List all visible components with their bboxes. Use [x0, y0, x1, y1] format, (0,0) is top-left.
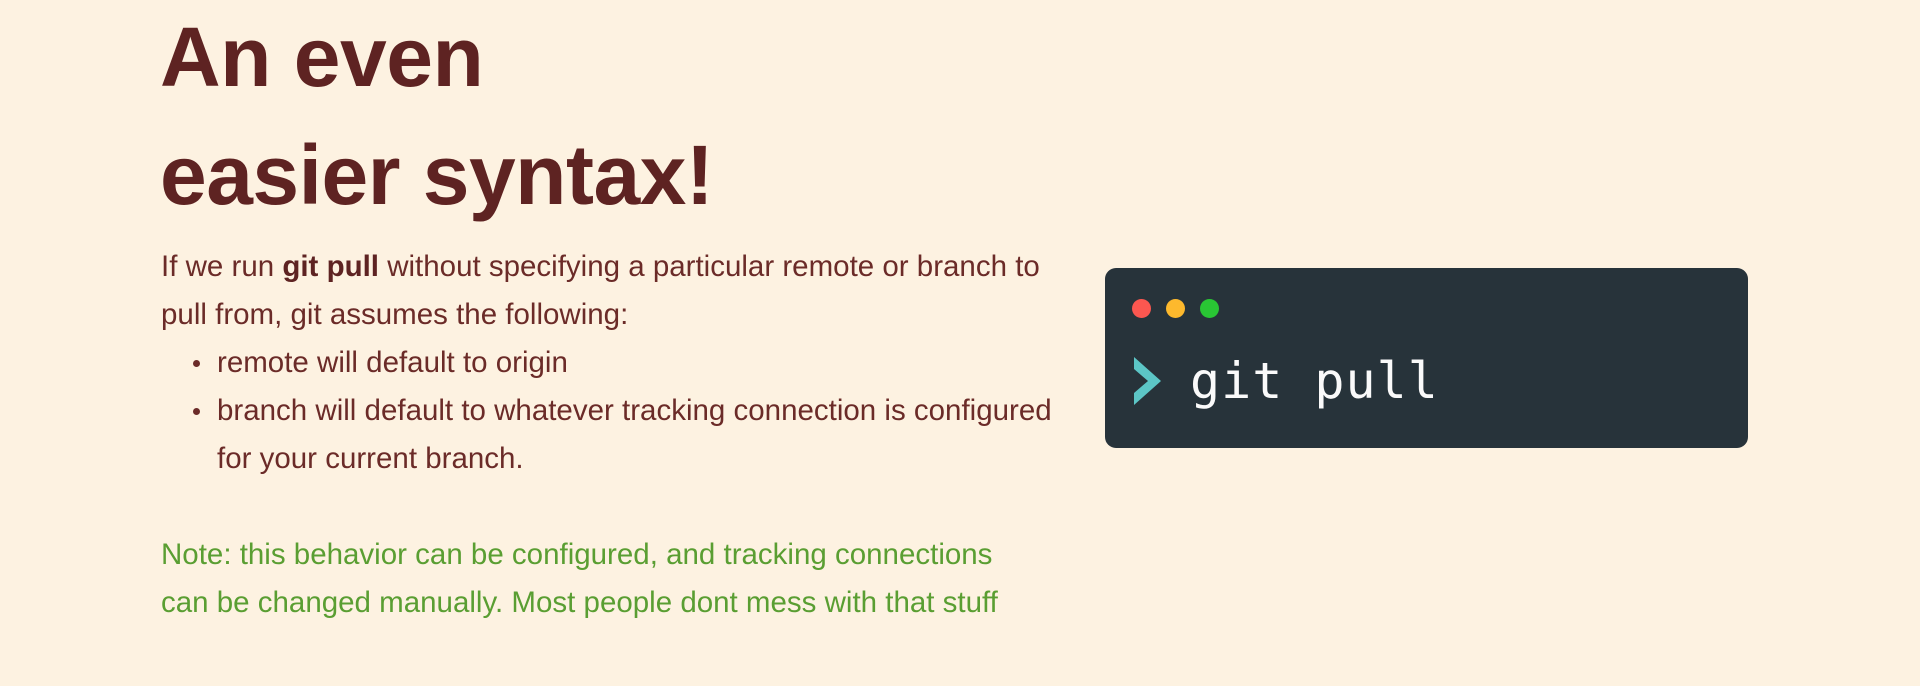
- close-button-icon[interactable]: [1132, 299, 1151, 318]
- minimize-button-icon[interactable]: [1166, 299, 1185, 318]
- page-title: An even easier syntax!: [160, 0, 1140, 234]
- body-copy: If we run git pull without specifying a …: [161, 243, 1081, 483]
- note-block: Note: this behavior can be configured, a…: [161, 531, 1041, 627]
- maximize-button-icon[interactable]: [1200, 299, 1219, 318]
- list-item-label: branch will default to whatever tracking…: [217, 394, 1052, 475]
- slide-root: An even easier syntax! If we run git pul…: [0, 0, 1920, 686]
- bullet-dot-icon: [193, 408, 200, 415]
- bullet-dot-icon: [193, 360, 200, 367]
- inline-code-git-pull: git pull: [282, 250, 379, 283]
- terminal-titlebar-controls: [1132, 299, 1219, 318]
- terminal-command-text: git pull: [1190, 355, 1439, 407]
- list-item-label: remote will default to origin: [217, 346, 568, 379]
- terminal-command-line: git pull: [1131, 350, 1439, 412]
- terminal-window[interactable]: git pull: [1105, 268, 1748, 448]
- intro-paragraph: If we run git pull without specifying a …: [161, 243, 1041, 339]
- intro-prefix-text: If we run: [161, 250, 282, 283]
- note-text: Note: this behavior can be configured, a…: [161, 531, 1041, 627]
- list-item: remote will default to origin: [161, 339, 1077, 387]
- assumptions-list: remote will default to origin branch wil…: [161, 339, 1081, 483]
- list-item: branch will default to whatever tracking…: [161, 387, 1077, 483]
- chevron-right-prompt-icon: [1131, 355, 1165, 407]
- page-title-line-1: An even: [160, 0, 1140, 116]
- page-title-line-2: easier syntax!: [160, 116, 1140, 234]
